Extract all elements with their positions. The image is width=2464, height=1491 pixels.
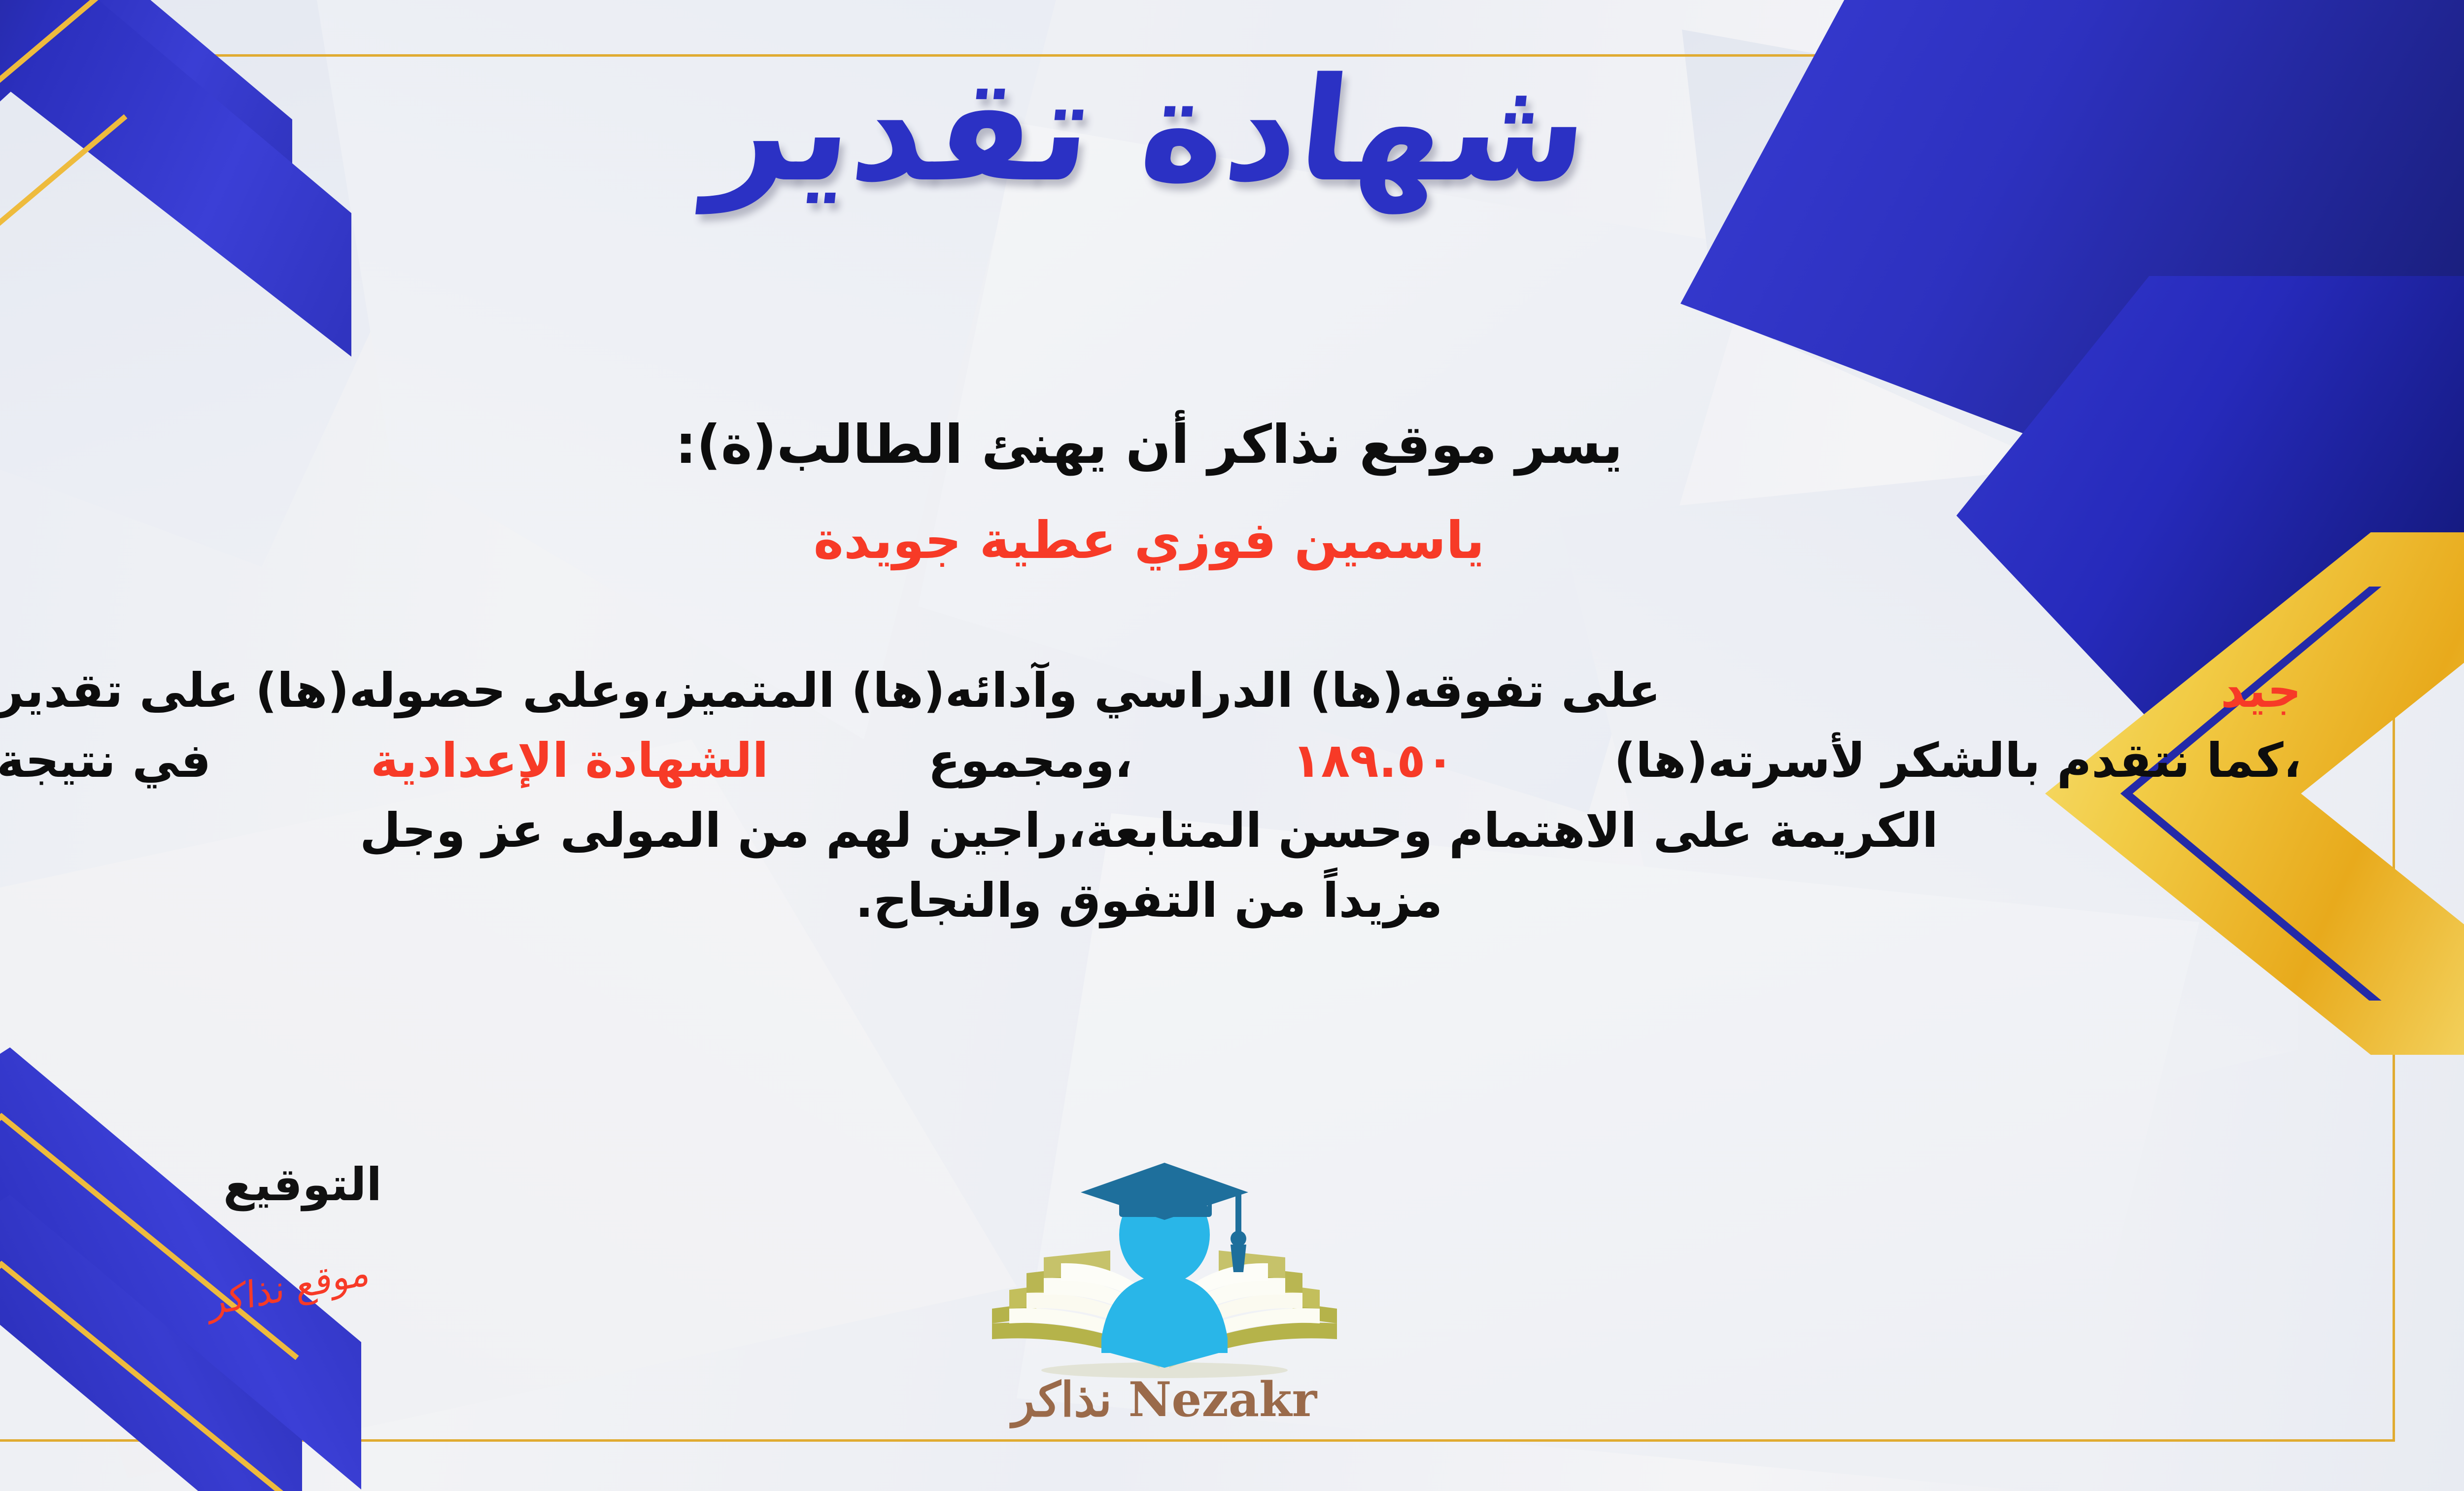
result-label: في نتيجة bbox=[0, 726, 211, 796]
certificate-title: شهادة تقدير bbox=[0, 59, 2464, 202]
certificate-body: جيد على تفوقه(ها) الدراسي وآدائه(ها) الم… bbox=[0, 656, 2301, 936]
student-name: ياسمين فوزي عطية جويدة bbox=[0, 510, 2464, 570]
body-line-wish: مزيداً من التفوق والنجاح. bbox=[0, 866, 2301, 936]
certificate-stage: الشهادة الإعدادية bbox=[371, 726, 768, 796]
total-label: ،ومجموع bbox=[928, 726, 1132, 796]
certificate-content: شهادة تقدير يسر موقع نذاكر أن يهنئ الطال… bbox=[0, 0, 2464, 1491]
body-line-family: الكريمة على الاهتمام وحسن المتابعة،راجين… bbox=[0, 796, 2301, 866]
grade-value: جيد bbox=[2221, 656, 2301, 726]
body-line-result: ،كما نتقدم بالشكر لأسرته(ها) ١٨٩.٥٠ ،ومج… bbox=[0, 726, 2301, 796]
tassel-knot bbox=[1231, 1231, 1246, 1247]
signature-mark: موقع نذاكر bbox=[208, 1250, 371, 1324]
signature-label: التوقيع bbox=[223, 1158, 382, 1211]
achievement-text: على تفوقه(ها) الدراسي وآدائه(ها) المتميز… bbox=[0, 656, 1661, 726]
total-score: ١٨٩.٥٠ bbox=[1292, 726, 1454, 796]
intro-text: يسر موقع نذاكر أن يهنئ الطالب(ة): bbox=[0, 414, 2464, 476]
logo-brand-text: Nezakr نذاكر bbox=[962, 1372, 1367, 1427]
certificate-page: شهادة تقدير يسر موقع نذاكر أن يهنئ الطال… bbox=[0, 0, 2464, 1491]
cap-top bbox=[1081, 1163, 1248, 1220]
thanks-text: ،كما نتقدم بالشكر لأسرته(ها) bbox=[1614, 726, 2301, 796]
body-line-achievement: جيد على تفوقه(ها) الدراسي وآدائه(ها) الم… bbox=[0, 656, 2301, 726]
nezakr-logo: Nezakr نذاكر bbox=[962, 1129, 1367, 1424]
